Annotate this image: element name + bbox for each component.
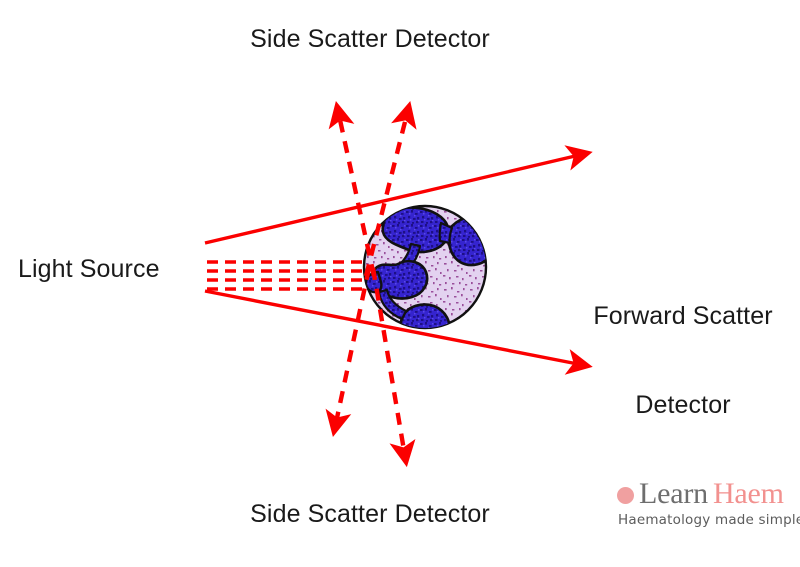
logo-word-learn: Learn bbox=[639, 478, 708, 510]
nucleus-filament-right bbox=[440, 223, 452, 243]
learnhaem-logo: Learn Haem Haematology made simple bbox=[617, 477, 795, 539]
logo-word-haem: Haem bbox=[713, 478, 784, 510]
nucleus-lobe-right bbox=[449, 217, 497, 265]
flow-cytometry-diagram: Side Scatter Detector Side Scatter Detec… bbox=[0, 0, 800, 567]
side-ray-down-left bbox=[334, 268, 369, 432]
light-source-beams bbox=[207, 262, 368, 289]
label-forward-scatter-detector: Forward Scatter Detector bbox=[568, 243, 798, 479]
label-forward-scatter-line-2: Detector bbox=[568, 391, 798, 421]
label-forward-scatter-line-1: Forward Scatter bbox=[568, 302, 798, 332]
neutrophil-cell bbox=[364, 206, 496, 343]
logo-circle-icon bbox=[617, 487, 634, 504]
logo-tagline: Haematology made simple bbox=[618, 512, 795, 528]
label-light-source: Light Source bbox=[18, 255, 198, 285]
logo-wordmark: Learn Haem bbox=[617, 477, 795, 511]
label-side-scatter-detector-top: Side Scatter Detector bbox=[0, 25, 740, 55]
side-ray-up-left bbox=[337, 106, 374, 276]
